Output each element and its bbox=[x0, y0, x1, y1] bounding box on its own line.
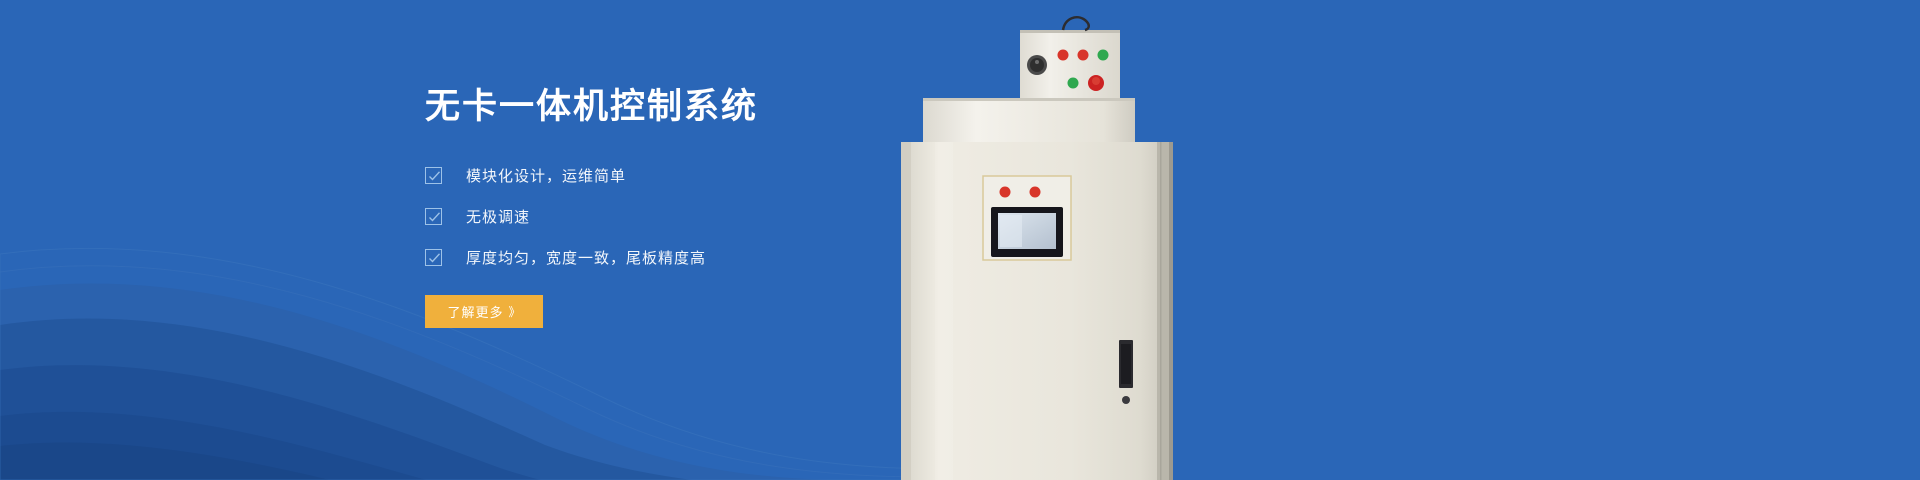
list-item-label: 厚度均匀，宽度一致，尾板精度高 bbox=[466, 247, 706, 268]
hero-banner: 无卡一体机控制系统 模块化设计，运维简单 无极调速 bbox=[0, 0, 1920, 480]
list-item-label: 模块化设计，运维简单 bbox=[466, 165, 626, 186]
industrial-control-cabinet-photo bbox=[895, 0, 1195, 480]
chevron-double-right-icon: 》 bbox=[509, 303, 521, 320]
checkbox-check-icon bbox=[425, 208, 442, 225]
checkbox-check-icon bbox=[425, 167, 442, 184]
checkbox-check-icon bbox=[425, 249, 442, 266]
learn-more-button[interactable]: 了解更多 》 bbox=[425, 295, 543, 328]
list-item-label: 无极调速 bbox=[466, 206, 530, 227]
learn-more-label: 了解更多 bbox=[447, 302, 503, 321]
